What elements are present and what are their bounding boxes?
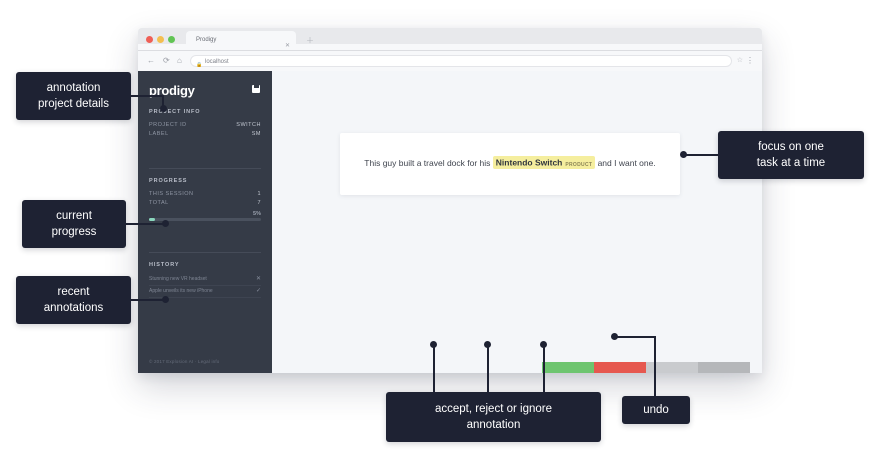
lock-icon: 🔒 [196, 59, 202, 71]
progress-value: 1 [257, 190, 261, 199]
callout-line: undo [643, 402, 669, 418]
app-sidebar: prodigy PROJECT INFO PROJECT ID switch L… [138, 71, 272, 373]
project-info-section: PROJECT INFO PROJECT ID switch LABEL sm [149, 109, 261, 139]
callout-leader-line [126, 223, 166, 225]
callout-focus-one-task: focus on one task at a time [718, 131, 864, 179]
project-info-row: LABEL sm [149, 130, 261, 139]
divider [149, 168, 261, 169]
address-bar-url: localhost [205, 59, 229, 65]
browser-tab[interactable]: Prodigy ✕ [186, 31, 296, 50]
browser-tab-title: Prodigy [196, 37, 216, 43]
project-info-value: switch [236, 121, 261, 130]
entity-highlight[interactable]: Nintendo SwitchPRODUCT [493, 156, 595, 169]
project-info-value: sm [252, 130, 261, 139]
callout-leader-dot [160, 105, 167, 112]
callout-leader-line [433, 344, 435, 394]
callout-line: focus on one [757, 139, 825, 155]
callout-line: recent [44, 284, 103, 300]
callout-line: task at a time [757, 155, 825, 171]
callout-line: project details [38, 96, 109, 112]
address-bar[interactable]: 🔒 localhost [190, 55, 732, 67]
cross-icon: ✕ [251, 274, 261, 285]
annotation-main-panel: This guy built a travel dock for his Nin… [272, 71, 762, 373]
window-minimize-button[interactable] [157, 36, 164, 43]
callout-line: current [52, 208, 97, 224]
app-viewport: prodigy PROJECT INFO PROJECT ID switch L… [138, 71, 762, 373]
annotation-action-bar [542, 362, 750, 373]
history-title: HISTORY [149, 262, 261, 268]
callout-line: annotation [38, 80, 109, 96]
callout-line: annotation [435, 417, 552, 433]
callout-annotation-project-details: annotation project details [16, 72, 131, 120]
callout-leader-dot [430, 341, 437, 348]
browser-window: Prodigy ✕ ＋ ← ⟳ ⌂ 🔒 localhost ☆ ⋮ prodig… [138, 28, 762, 373]
callout-line: progress [52, 224, 97, 240]
progress-value: 7 [257, 199, 261, 208]
annotation-task-text: This guy built a travel dock for his Nin… [364, 155, 655, 174]
task-suffix: and I want one. [595, 158, 656, 168]
accept-button[interactable] [542, 362, 594, 373]
reload-icon[interactable]: ⟳ [163, 56, 170, 66]
sidebar-footer: © 2017 Explosion AI · Legal info [149, 359, 220, 364]
callout-leader-dot [540, 341, 547, 348]
progress-row: THIS SESSION 1 [149, 190, 261, 199]
callout-leader-dot [680, 151, 687, 158]
progress-label: THIS SESSION [149, 190, 194, 199]
check-icon: ✓ [251, 286, 261, 297]
callout-leader-dot [162, 220, 169, 227]
project-info-row: PROJECT ID switch [149, 121, 261, 130]
callout-undo: undo [622, 396, 690, 424]
history-item-text: Stunning new VR headset [149, 274, 251, 285]
plus-icon[interactable]: ＋ [306, 35, 314, 46]
task-prefix: This guy built a travel dock for his [364, 158, 493, 168]
progress-title: PROGRESS [149, 178, 261, 184]
history-section: HISTORY Stunning new VR headset ✕ Apple … [149, 243, 261, 298]
annotation-card: This guy built a travel dock for his Nin… [340, 133, 680, 195]
kebab-menu-icon[interactable]: ⋮ [746, 56, 754, 65]
callout-recent-annotations: recent annotations [16, 276, 131, 324]
progress-percent-label: 5% [253, 211, 261, 217]
browser-titlebar: Prodigy ✕ ＋ [138, 28, 762, 51]
callout-leader-line [683, 154, 721, 156]
home-icon[interactable]: ⌂ [177, 56, 182, 66]
arrow-left-icon[interactable]: ← [147, 56, 155, 66]
entity-label: PRODUCT [565, 162, 592, 168]
window-maximize-button[interactable] [168, 36, 175, 43]
callout-leader-line [614, 336, 656, 338]
undo-button[interactable] [698, 362, 750, 373]
callout-leader-line [654, 336, 656, 397]
callout-leader-dot [162, 296, 169, 303]
callout-line: annotations [44, 300, 103, 316]
progress-section: PROGRESS THIS SESSION 1 TOTAL 7 5% [149, 159, 261, 221]
save-icon[interactable] [252, 85, 260, 93]
progress-row: TOTAL 7 [149, 199, 261, 208]
window-close-button[interactable] [146, 36, 153, 43]
project-info-label: LABEL [149, 130, 169, 139]
project-info-label: PROJECT ID [149, 121, 187, 130]
progress-label: TOTAL [149, 199, 169, 208]
entity-text: Nintendo Switch [496, 158, 563, 168]
callout-leader-line [487, 344, 489, 394]
callout-line: accept, reject or ignore [435, 401, 552, 417]
callout-leader-dot [484, 341, 491, 348]
callout-accept-reject-ignore: accept, reject or ignore annotation [386, 392, 601, 442]
browser-toolbar: ← ⟳ ⌂ 🔒 localhost ☆ ⋮ [138, 51, 762, 72]
divider [149, 252, 261, 253]
reject-button[interactable] [594, 362, 646, 373]
progress-bar-fill [149, 218, 155, 221]
callout-current-progress: current progress [22, 200, 126, 248]
callout-leader-line [543, 344, 545, 394]
star-icon[interactable]: ☆ [737, 56, 743, 64]
callout-leader-line [131, 95, 164, 97]
list-item[interactable]: Stunning new VR headset ✕ [149, 274, 261, 286]
callout-leader-dot [611, 333, 618, 340]
